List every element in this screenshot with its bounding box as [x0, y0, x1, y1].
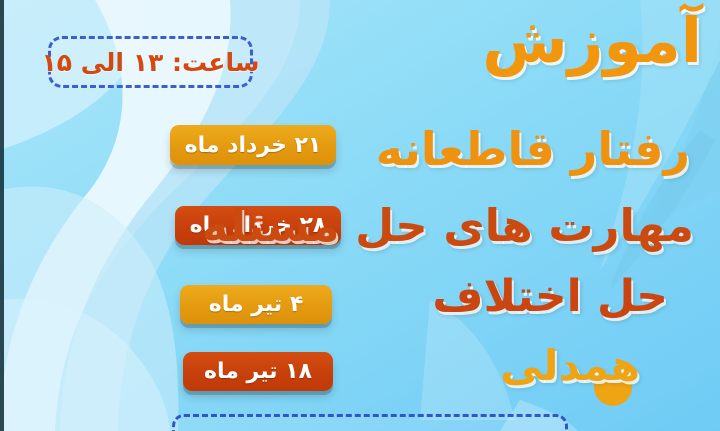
- heading-topic-4: همدلی: [500, 345, 640, 387]
- date-badge-1-label: ۲۱ خرداد ماه: [185, 133, 322, 158]
- heading-topic-1: رفتار قاطعانه: [376, 126, 690, 172]
- time-badge: ساعت: ۱۳ الی ۱۵: [48, 36, 253, 88]
- heading-topic-3: حل اختلاف: [432, 275, 668, 319]
- poster-title: آموزش: [482, 10, 702, 72]
- date-badge-4-label: ۱۸ تیر ماه: [204, 359, 312, 384]
- date-badge-1[interactable]: ۲۱ خرداد ماه: [170, 125, 336, 165]
- date-badge-3[interactable]: ۴ تیر ماه: [180, 285, 332, 324]
- date-badge-3-label: ۴ تیر ماه: [209, 292, 304, 317]
- poster-canvas: ساعت: ۱۳ الی ۱۵ ۲۱ خرداد ماه ۲۸ خرداد ما…: [0, 0, 720, 431]
- bottom-dashed-box: [172, 414, 568, 431]
- left-edge-strip: [0, 0, 4, 431]
- time-badge-label: ساعت: ۱۳ الی ۱۵: [42, 48, 260, 77]
- heading-topic-2: مهارت های حل مسئله: [202, 203, 694, 248]
- date-badge-4[interactable]: ۱۸ تیر ماه: [183, 352, 333, 391]
